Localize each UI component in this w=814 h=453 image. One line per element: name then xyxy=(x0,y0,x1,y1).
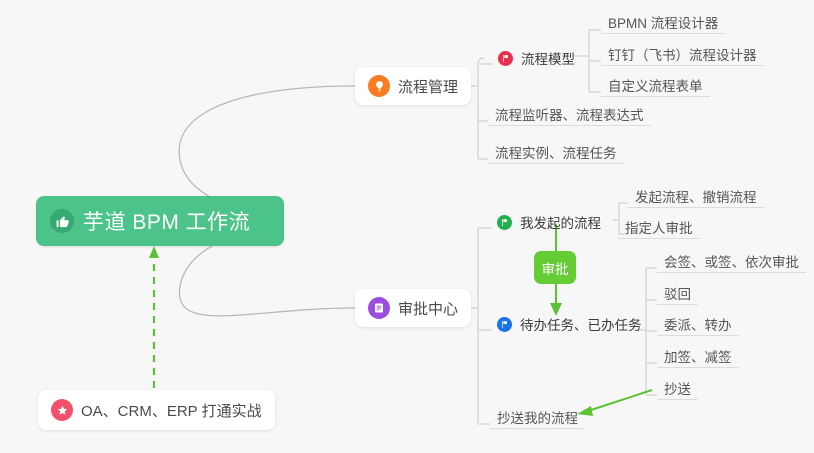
node-designated-approver[interactable]: 指定人审批 xyxy=(618,213,700,239)
root-node[interactable]: 芋道 BPM 工作流 xyxy=(36,196,284,246)
arrow-cc-to-ccme xyxy=(577,390,652,416)
node-process-management-label: 流程管理 xyxy=(398,76,458,97)
node-countersign-or-sequential-label: 会签、或签、依次审批 xyxy=(664,256,799,270)
node-process-model-label: 流程模型 xyxy=(521,53,575,67)
star-circle-icon xyxy=(51,399,73,421)
node-my-initiated-processes[interactable]: 我发起的流程 xyxy=(492,207,608,233)
clipboard-icon xyxy=(368,297,390,319)
callout-approve[interactable]: 审批 xyxy=(534,251,576,284)
node-custom-process-form[interactable]: 自定义流程表单 xyxy=(601,71,710,97)
node-todo-done-tasks-label: 待办任务、已办任务 xyxy=(520,319,642,333)
node-cc-to-me-processes[interactable]: 抄送我的流程 xyxy=(490,403,585,429)
node-dingtalk-feishu-designer[interactable]: 钉钉（飞书）流程设计器 xyxy=(601,40,764,66)
node-process-listener-expression[interactable]: 流程监听器、流程表达式 xyxy=(488,100,651,126)
node-process-instance-task-label: 流程实例、流程任务 xyxy=(495,147,617,161)
node-reject-label: 驳回 xyxy=(664,288,691,302)
lightbulb-icon xyxy=(368,75,390,97)
link-pm-spine-cap-top xyxy=(478,58,484,64)
node-process-listener-expression-label: 流程监听器、流程表达式 xyxy=(495,109,644,123)
thumbs-up-icon xyxy=(50,209,74,233)
node-reject[interactable]: 驳回 xyxy=(657,279,698,305)
node-add-remove-sign[interactable]: 加签、减签 xyxy=(657,342,739,368)
mindmap-canvas: 芋道 BPM 工作流 流程管理 流程模型 BPMN 流程设计器 钉钉（飞书）流程… xyxy=(0,0,814,453)
node-custom-process-form-label: 自定义流程表单 xyxy=(608,80,703,94)
node-todo-done-tasks[interactable]: 待办任务、已办任务 xyxy=(492,309,649,335)
node-delegate-transfer[interactable]: 委派、转办 xyxy=(657,310,739,336)
node-delegate-transfer-label: 委派、转办 xyxy=(664,319,732,333)
node-my-initiated-processes-label: 我发起的流程 xyxy=(520,217,601,231)
flag-icon xyxy=(498,51,513,66)
node-designated-approver-label: 指定人审批 xyxy=(625,222,693,236)
node-approval-center[interactable]: 审批中心 xyxy=(355,289,471,327)
node-start-cancel-process[interactable]: 发起流程、撤销流程 xyxy=(628,182,764,208)
node-dingtalk-feishu-designer-label: 钉钉（飞书）流程设计器 xyxy=(608,49,757,63)
node-process-instance-task[interactable]: 流程实例、流程任务 xyxy=(488,138,624,164)
flag-icon xyxy=(497,215,512,230)
node-integration[interactable]: OA、CRM、ERP 打通实战 xyxy=(38,390,275,430)
root-label: 芋道 BPM 工作流 xyxy=(83,206,250,236)
node-cc-to-me-processes-label: 抄送我的流程 xyxy=(497,412,578,426)
arrow-integration-to-root xyxy=(149,246,159,388)
node-start-cancel-process-label: 发起流程、撤销流程 xyxy=(635,191,757,205)
node-approval-center-label: 审批中心 xyxy=(398,298,458,319)
node-cc[interactable]: 抄送 xyxy=(657,374,698,400)
node-countersign-or-sequential[interactable]: 会签、或签、依次审批 xyxy=(657,247,806,273)
node-process-management[interactable]: 流程管理 xyxy=(355,67,471,105)
node-bpmn-designer[interactable]: BPMN 流程设计器 xyxy=(601,8,725,34)
node-integration-label: OA、CRM、ERP 打通实战 xyxy=(81,400,262,421)
node-add-remove-sign-label: 加签、减签 xyxy=(664,351,732,365)
flag-icon xyxy=(497,317,512,332)
node-bpmn-designer-label: BPMN 流程设计器 xyxy=(608,17,718,31)
node-process-model[interactable]: 流程模型 xyxy=(493,43,582,69)
node-cc-label: 抄送 xyxy=(664,383,691,397)
callout-approve-label: 审批 xyxy=(542,258,569,278)
